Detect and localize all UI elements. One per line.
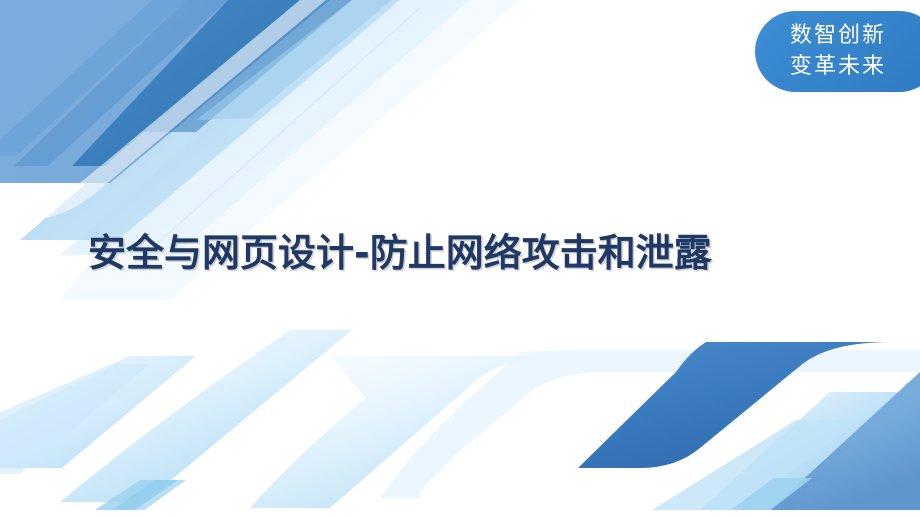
bottom-decoration-group: [0, 330, 920, 518]
slide-canvas: 数智创新 变革未来 安全与网页设计-防止网络攻击和泄露: [0, 0, 920, 518]
corner-badge-line-2: 变革未来: [790, 51, 920, 82]
corner-badge-line-1: 数智创新: [790, 20, 920, 51]
corner-badge: 数智创新 变革未来: [755, 11, 920, 92]
title-block: 安全与网页设计-防止网络攻击和泄露: [88, 228, 848, 278]
page-title: 安全与网页设计-防止网络攻击和泄露: [88, 228, 848, 278]
